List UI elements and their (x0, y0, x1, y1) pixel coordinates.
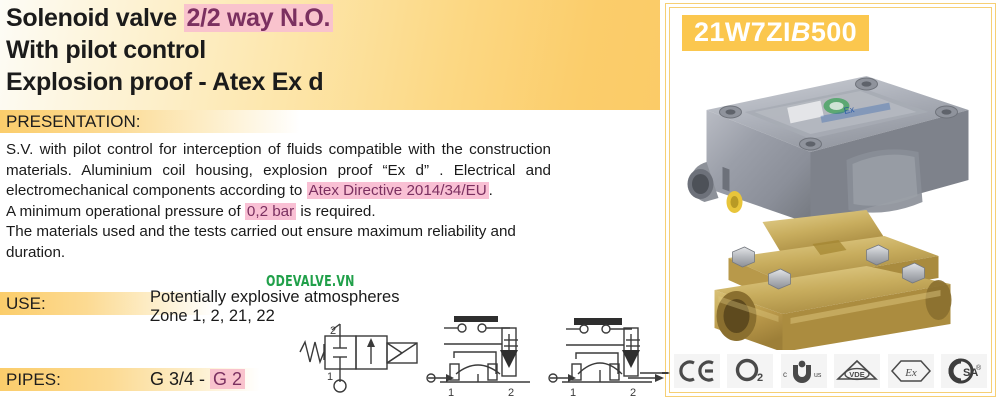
product-code: 21W7ZIB500 (694, 17, 857, 48)
vde-mark-icon: VDE (834, 354, 880, 388)
product-code-italic-letter: B (791, 17, 811, 47)
product-panel: 21W7ZIB500 (665, 3, 996, 397)
svg-text:us: us (814, 372, 822, 379)
valve-symbol-port-2-label: 2 (330, 325, 336, 337)
use-value-line-1: Potentially explosive atmospheres (150, 288, 399, 307)
presentation-paragraph-2: A minimum operational pressure of 0,2 ba… (6, 202, 551, 223)
pipes-value-standard: G 3/4 - (150, 369, 210, 389)
section-open-port-2-label: 2 (630, 387, 636, 398)
product-title-highlight: 2/2 way N.O. (184, 4, 334, 32)
connector-line (640, 372, 670, 374)
cul-us-mark-icon: c us (781, 354, 827, 388)
svg-text:®: ® (976, 364, 982, 372)
section-closed-port-1-label: 1 (448, 387, 454, 398)
presentation-paragraph-3: The materials used and the tests carried… (6, 222, 551, 263)
csa-mark-icon: SA ® (941, 354, 987, 388)
product-title-line-2: With pilot control (6, 38, 206, 63)
product-code-prefix: 21W7ZI (694, 17, 791, 47)
pressure-text-before: A minimum operational pressure of (6, 203, 245, 220)
title-header-band: Solenoid valve 2/2 way N.O. With pilot c… (0, 0, 660, 110)
product-title-main: Solenoid valve (6, 4, 184, 32)
product-photo: Ex (670, 52, 991, 352)
use-label: USE: (6, 294, 46, 314)
presentation-body-text: S.V. with pilot control for interception… (6, 140, 551, 264)
left-content-column: Solenoid valve 2/2 way N.O. With pilot c… (0, 0, 660, 400)
minimum-pressure-highlight: 0,2 bar (245, 203, 296, 220)
datasheet-page: Solenoid valve 2/2 way N.O. With pilot c… (0, 0, 1000, 400)
valve-section-open-diagram: 1 2 (548, 312, 666, 403)
pipes-value: G 3/4 - G 2 (150, 369, 245, 390)
pipes-label: PIPES: (6, 370, 61, 390)
presentation-paragraph-1: S.V. with pilot control for interception… (6, 140, 551, 202)
certification-marks-row: 2 c us (670, 350, 991, 392)
pressure-text-after: is required. (296, 203, 375, 220)
valve-section-closed-diagram: 1 2 (426, 312, 544, 403)
presentation-label-band: PRESENTATION: (0, 110, 300, 133)
section-open-port-1-label: 1 (570, 387, 576, 398)
svg-text:VDE: VDE (850, 370, 865, 379)
atex-directive-highlight: Atex Directive 2014/34/EU (307, 182, 489, 199)
svg-text:2: 2 (757, 372, 763, 384)
product-code-suffix: 500 (811, 17, 857, 47)
product-panel-inner: 21W7ZIB500 (669, 7, 992, 393)
product-title-line-3: Explosion proof - Atex Ex d (6, 70, 323, 95)
svg-text:Ex: Ex (904, 367, 917, 379)
svg-text:c: c (783, 370, 787, 379)
use-value: Potentially explosive atmospheres Zone 1… (150, 288, 399, 326)
valve-schematic-symbol: 2 1 (296, 322, 426, 399)
product-code-badge: 21W7ZIB500 (682, 15, 869, 51)
valve-symbol-port-1-label: 1 (327, 371, 333, 383)
atex-ex-mark-icon: Ex (888, 354, 934, 388)
presentation-label: PRESENTATION: (6, 112, 140, 132)
oxygen-mark-icon: 2 (727, 354, 773, 388)
section-closed-port-2-label: 2 (508, 387, 514, 398)
pipes-value-highlight: G 2 (210, 369, 245, 389)
ce-mark-icon (674, 354, 720, 388)
product-title-line-1: Solenoid valve 2/2 way N.O. (6, 6, 333, 31)
presentation-paragraph-1-end: . (489, 182, 493, 199)
